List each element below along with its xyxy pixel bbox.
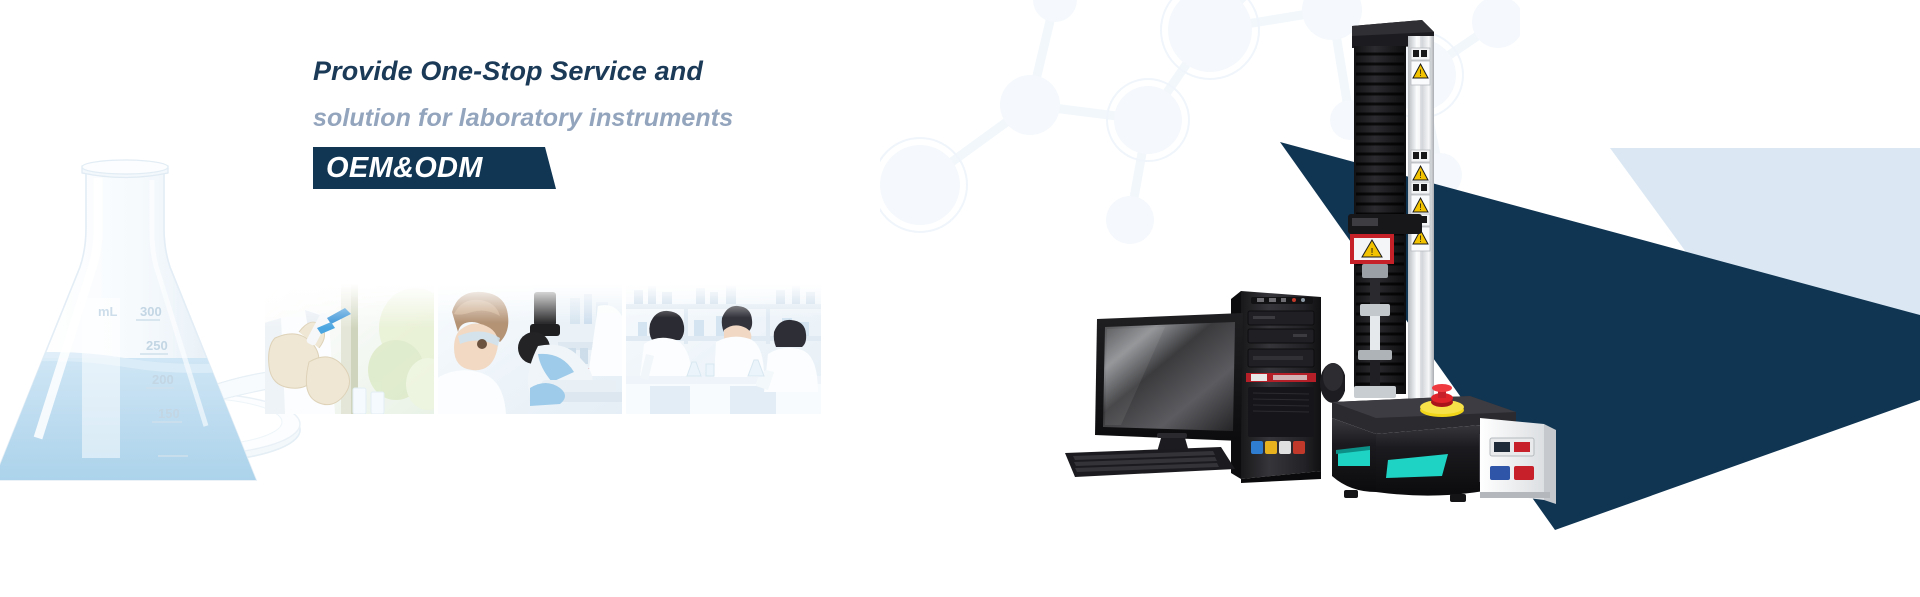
photo-laboratory (626, 284, 821, 414)
svg-text:!: ! (1371, 247, 1374, 258)
arrow-light (1610, 148, 1920, 315)
lab-photo-strip (265, 284, 821, 414)
oem-odm-badge[interactable]: OEM&ODM (313, 147, 556, 189)
headline-block: Provide One-Stop Service and solution fo… (313, 58, 1053, 189)
decorative-arrows (1280, 100, 1920, 530)
pc-tower (1231, 291, 1321, 483)
svg-text:!: ! (1419, 202, 1422, 212)
warning-label-group: ! ! ! (1411, 48, 1430, 251)
monitor (1095, 313, 1243, 470)
headline-line-2: solution for laboratory instruments (313, 106, 1053, 131)
svg-text:300: 300 (140, 304, 162, 319)
badge-label: OEM&ODM (326, 152, 483, 185)
machine-base (1332, 396, 1516, 502)
svg-text:!: ! (1419, 68, 1422, 78)
headline-line-1: Provide One-Stop Service and (313, 58, 1053, 85)
svg-text:!: ! (1419, 234, 1422, 244)
svg-text:250: 250 (146, 338, 168, 353)
svg-text:!: ! (1419, 170, 1422, 180)
universal-testing-machine: ! ! ! (1330, 14, 1580, 544)
svg-text:200: 200 (152, 372, 174, 387)
svg-text:mL: mL (98, 304, 118, 319)
control-cabinet (1480, 418, 1556, 504)
photo-pipetting (265, 284, 434, 414)
photo-microscope (438, 284, 622, 414)
desktop-computer (1045, 283, 1345, 483)
emergency-stop-button (1420, 384, 1464, 417)
keyboard (1065, 447, 1235, 477)
mouse (1320, 363, 1345, 403)
svg-text:150: 150 (158, 406, 180, 421)
crosshead: ! (1348, 214, 1422, 312)
grips (1354, 264, 1396, 398)
promo-banner: 300 250 200 150 mL (0, 0, 1920, 597)
arrow-dark (1280, 142, 1920, 530)
